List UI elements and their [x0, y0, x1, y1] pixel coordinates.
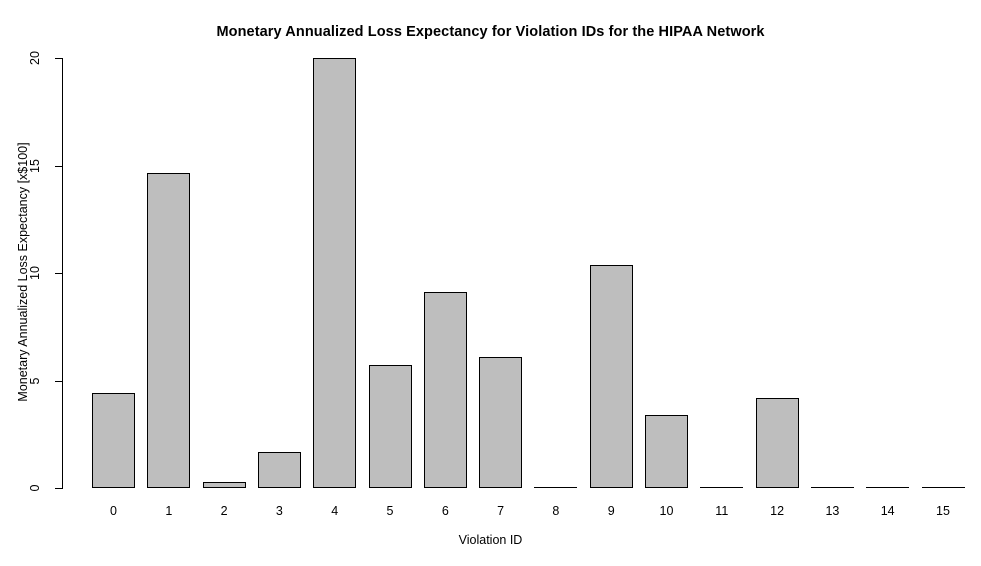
x-axis-tick-label: 15 — [923, 504, 963, 518]
bar — [590, 265, 633, 488]
x-axis-tick-label: 2 — [204, 504, 244, 518]
x-axis-tick-label: 5 — [370, 504, 410, 518]
x-axis-title: Violation ID — [0, 533, 981, 547]
y-axis-tick-label: 0 — [22, 481, 48, 495]
x-axis-tick-label: 0 — [94, 504, 134, 518]
x-axis-tick-label: 7 — [481, 504, 521, 518]
y-axis-tick-mark — [55, 488, 62, 489]
bar — [369, 365, 412, 488]
y-axis-tick-label: 15 — [22, 159, 48, 173]
bar — [645, 415, 688, 488]
x-axis-tick-label: 6 — [425, 504, 465, 518]
x-axis-tick-label: 13 — [812, 504, 852, 518]
y-axis-tick-text: 0 — [28, 475, 42, 501]
bar — [203, 482, 246, 488]
x-axis-tick-label: 12 — [757, 504, 797, 518]
x-axis-tick-label: 9 — [591, 504, 631, 518]
bar — [922, 487, 965, 488]
chart-title: Monetary Annualized Loss Expectancy for … — [0, 24, 981, 40]
bar — [534, 487, 577, 488]
y-axis-tick-text: 10 — [28, 260, 42, 286]
bar — [700, 487, 743, 488]
x-axis-tick-label: 3 — [259, 504, 299, 518]
bar — [479, 357, 522, 488]
y-axis-tick-text: 15 — [28, 153, 42, 179]
bar — [313, 58, 356, 488]
bar — [756, 398, 799, 488]
y-axis-tick-mark — [55, 381, 62, 382]
x-axis-tick-label: 14 — [868, 504, 908, 518]
bar — [258, 452, 301, 488]
bar-chart: Monetary Annualized Loss Expectancy for … — [0, 0, 981, 566]
bar — [811, 487, 854, 488]
y-axis-tick-mark — [55, 58, 62, 59]
x-axis-tick-label: 4 — [315, 504, 355, 518]
x-axis-tick-label: 8 — [536, 504, 576, 518]
x-axis-tick-label: 1 — [149, 504, 189, 518]
bar — [424, 292, 467, 488]
x-axis-tick-label: 11 — [702, 504, 742, 518]
y-axis-tick-text: 5 — [28, 368, 42, 394]
bar — [866, 487, 909, 488]
x-axis-tick-label: 10 — [647, 504, 687, 518]
bar — [147, 173, 190, 488]
y-axis-tick-mark — [55, 166, 62, 167]
bar — [92, 393, 135, 488]
y-axis-tick-label: 5 — [22, 374, 48, 388]
y-axis-tick-label: 10 — [22, 266, 48, 280]
y-axis-line — [62, 58, 63, 489]
y-axis-tick-label: 20 — [22, 51, 48, 65]
y-axis-tick-mark — [55, 273, 62, 274]
y-axis-tick-text: 20 — [28, 45, 42, 71]
